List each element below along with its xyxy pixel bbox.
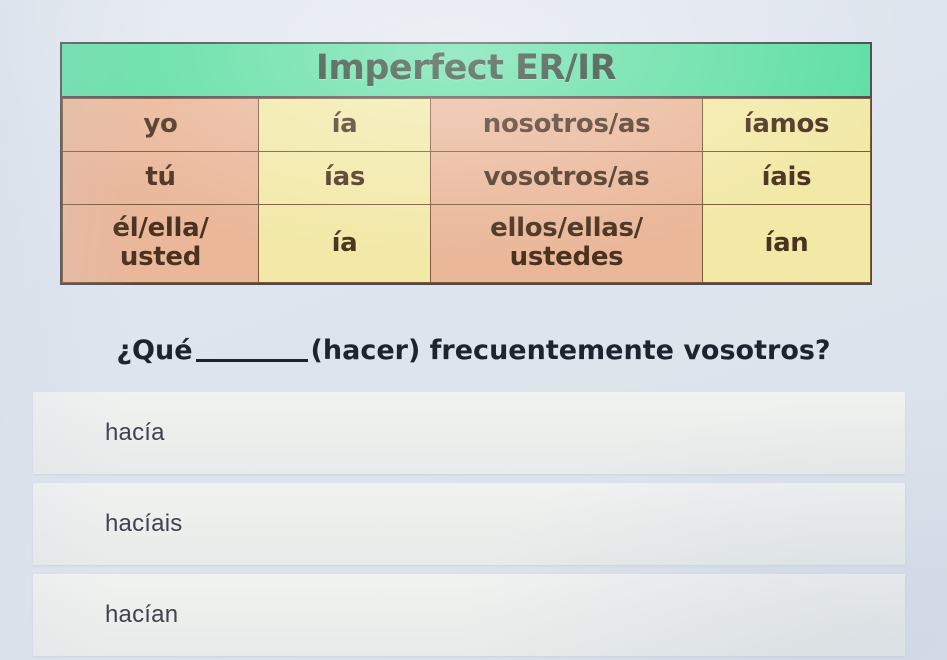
cell-pronoun-nosotros: nosotros/as (431, 98, 703, 151)
question-prompt: ¿Qué(hacer) frecuentemente vosotros? (0, 336, 947, 366)
cell-pronoun-tu: tú (63, 151, 259, 204)
cell-ending-yo: ía (259, 98, 431, 151)
cell-ending-tu: ías (259, 151, 431, 204)
cell-ending-ellos-ellas-ustedes: ían (703, 204, 871, 282)
answer-option-2[interactable]: hacíais (33, 483, 905, 565)
table-row: él/ella/ usted ía ellos/ellas/ ustedes í… (63, 204, 871, 282)
answer-option-3[interactable]: hacían (33, 574, 905, 656)
question-suffix: (hacer) frecuentemente vosotros? (311, 335, 831, 366)
table-row: tú ías vosotros/as íais (63, 151, 871, 204)
imperfect-conjugation-chart: Imperfect ER/IR yo ía nosotros/as íamos … (60, 42, 872, 285)
answer-option-1-label: hacía (105, 419, 165, 447)
cell-ending-nosotros: íamos (703, 98, 871, 151)
cell-pronoun-vosotros: vosotros/as (431, 151, 703, 204)
conjugation-table: yo ía nosotros/as íamos tú ías vosotros/… (62, 98, 871, 283)
answer-option-2-label: hacíais (105, 510, 182, 538)
cell-pronoun-el-ella-usted-line1: él/ella/ (112, 213, 208, 243)
question-prefix: ¿Qué (116, 335, 192, 366)
cell-pronoun-yo: yo (63, 98, 259, 151)
chart-title-bar: Imperfect ER/IR (62, 44, 870, 98)
cell-pronoun-el-ella-usted-line2: usted (120, 242, 201, 272)
cell-pronoun-el-ella-usted: él/ella/ usted (63, 204, 259, 282)
chart-title: Imperfect ER/IR (316, 48, 616, 88)
table-row: yo ía nosotros/as íamos (63, 98, 871, 151)
cell-pronoun-ellos-ellas-ustedes-line2: ustedes (510, 242, 624, 272)
cell-pronoun-ellos-ellas-ustedes-line1: ellos/ellas/ (490, 213, 643, 243)
answer-options-list: hacía hacíais hacían (33, 392, 905, 660)
cell-ending-el-ella-usted: ía (259, 204, 431, 282)
answer-option-1[interactable]: hacía (33, 392, 905, 474)
cell-pronoun-ellos-ellas-ustedes: ellos/ellas/ ustedes (431, 204, 703, 282)
answer-option-3-label: hacían (105, 601, 178, 629)
cell-ending-vosotros: íais (703, 151, 871, 204)
question-blank (196, 359, 308, 362)
